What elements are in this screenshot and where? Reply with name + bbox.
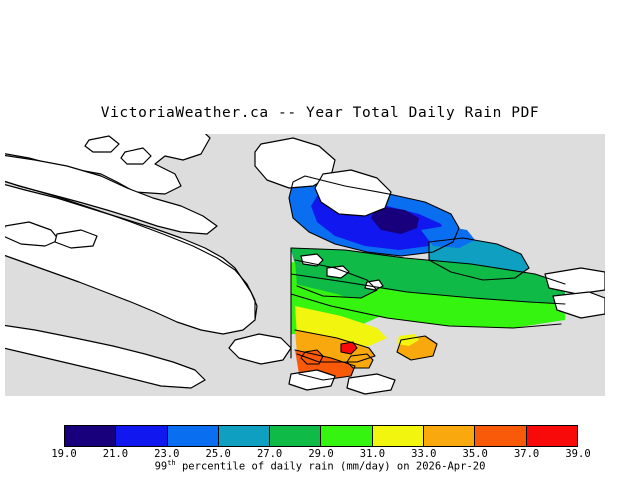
map-panel[interactable] xyxy=(5,134,605,396)
map-canvas[interactable] xyxy=(5,134,605,396)
colorbar-segment-21.0-23.0[interactable] xyxy=(116,426,167,446)
colorbar-segment-29.0-31.0[interactable] xyxy=(321,426,372,446)
colorbar-segment-23.0-25.0[interactable] xyxy=(168,426,219,446)
colorbar-segment-35.0-37.0[interactable] xyxy=(475,426,526,446)
caption-rest: percentile of daily rain (mm/day) on 202… xyxy=(176,461,486,473)
colorbar-caption: 99th percentile of daily rain (mm/day) o… xyxy=(0,459,640,473)
colorbar-segment-37.0-39.0[interactable] xyxy=(527,426,577,446)
colorbar-segment-19.0-21.0[interactable] xyxy=(65,426,116,446)
caption-ordinal-suffix: th xyxy=(167,459,175,467)
page-root: VictoriaWeather.ca -- Year Total Daily R… xyxy=(0,0,640,480)
colorbar[interactable] xyxy=(64,425,578,447)
colorbar-segment-27.0-29.0[interactable] xyxy=(270,426,321,446)
page-title: VictoriaWeather.ca -- Year Total Daily R… xyxy=(0,105,640,121)
colorbar-segment-31.0-33.0[interactable] xyxy=(373,426,424,446)
caption-percentile-number: 99 xyxy=(155,461,168,473)
colorbar-segment-33.0-35.0[interactable] xyxy=(424,426,475,446)
colorbar-segment-25.0-27.0[interactable] xyxy=(219,426,270,446)
